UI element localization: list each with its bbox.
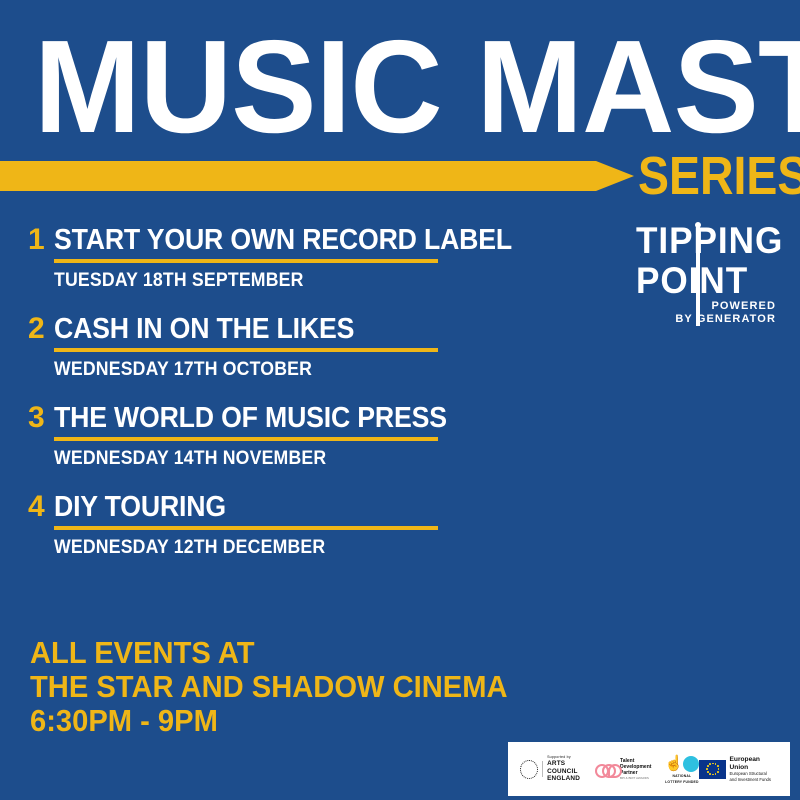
event-title: THE WORLD OF MUSIC PRESS — [54, 402, 447, 434]
logo-tagline-line-1: POWERED — [675, 300, 776, 313]
event-list: 1 START YOUR OWN RECORD LABEL TUESDAY 18… — [28, 224, 458, 580]
event-title: DIY TOURING — [54, 491, 226, 523]
logo-line-2: POINT — [636, 262, 769, 300]
lottery-circle-icon — [683, 756, 699, 772]
yellow-arrow-bar — [0, 161, 634, 191]
event-date: WEDNESDAY 17TH OCTOBER — [54, 359, 430, 380]
poster-title-block: MUSIC MASTERS — [34, 22, 774, 152]
talent-partner-line-1: Talent Development — [620, 758, 665, 770]
funder-logo-strip: Supported by ARTS COUNCIL ENGLAND Talent… — [508, 742, 790, 796]
venue-line-2: THE STAR AND SHADOW CINEMA — [30, 670, 508, 704]
logo-line-1: TIPPING — [636, 222, 769, 260]
national-lottery-marks: ☝ — [665, 754, 699, 773]
list-item: 4 DIY TOURING WEDNESDAY 12TH DECEMBER — [28, 491, 458, 558]
european-union-logo: European Union European Structural and I… — [699, 756, 778, 782]
event-heading: 2 CASH IN ON THE LIKES — [28, 313, 458, 345]
event-title: CASH IN ON THE LIKES — [54, 313, 354, 345]
european-union-text: European Union European Structural and I… — [730, 756, 778, 782]
logo-tagline: POWERED BY GENERATOR — [675, 300, 776, 326]
event-underline — [54, 437, 438, 441]
event-underline — [54, 348, 438, 352]
event-title: START YOUR OWN RECORD LABEL — [54, 224, 512, 256]
event-date: WEDNESDAY 12TH DECEMBER — [54, 537, 430, 558]
arts-council-name-2: ENGLAND — [547, 775, 595, 782]
arts-council-name-1: ARTS COUNCIL — [547, 760, 595, 775]
event-number: 1 — [28, 224, 54, 256]
poster-canvas: MUSIC MASTERS SERIES 1 START YOUR OWN RE… — [0, 0, 800, 800]
crossed-fingers-icon: ☝ — [665, 754, 680, 773]
page-title: MUSIC MASTERS — [34, 22, 752, 152]
talent-partner-line-3: BPI & BRIT AWARDS — [620, 776, 665, 780]
event-underline — [54, 259, 438, 263]
event-date: TUESDAY 18TH SEPTEMBER — [54, 270, 430, 291]
arts-council-mark-icon — [520, 760, 538, 779]
event-underline — [54, 526, 438, 530]
event-date: WEDNESDAY 14TH NOVEMBER — [54, 448, 430, 469]
list-item: 1 START YOUR OWN RECORD LABEL TUESDAY 18… — [28, 224, 458, 291]
national-lottery-line-2: LOTTERY FUNDED — [665, 780, 699, 784]
event-heading: 1 START YOUR OWN RECORD LABEL — [28, 224, 458, 256]
event-heading: 3 THE WORLD OF MUSIC PRESS — [28, 402, 458, 434]
national-lottery-line-1: NATIONAL — [672, 774, 691, 778]
event-number: 4 — [28, 491, 54, 523]
national-lottery-logo: ☝ NATIONAL LOTTERY FUNDED — [665, 754, 699, 783]
list-item: 3 THE WORLD OF MUSIC PRESS WEDNESDAY 14T… — [28, 402, 458, 469]
series-label: SERIES — [638, 149, 800, 203]
divider — [542, 761, 543, 777]
event-number: 3 — [28, 402, 54, 434]
talent-partner-text: Talent Development Partner BPI & BRIT AW… — [620, 758, 665, 780]
venue-line-1: ALL EVENTS AT — [30, 636, 508, 670]
arts-council-england-logo: Supported by ARTS COUNCIL ENGLAND — [520, 755, 595, 782]
tipping-point-logo: TIPPING POINT POWERED BY GENERATOR — [636, 222, 776, 334]
bpd-mark-icon — [595, 762, 616, 776]
list-item: 2 CASH IN ON THE LIKES WEDNESDAY 17TH OC… — [28, 313, 458, 380]
european-union-line-3: and Investment Funds — [730, 777, 778, 782]
arts-council-text: Supported by ARTS COUNCIL ENGLAND — [547, 755, 595, 782]
venue-block: ALL EVENTS AT THE STAR AND SHADOW CINEMA… — [30, 636, 538, 738]
talent-development-partner-logo: Talent Development Partner BPI & BRIT AW… — [595, 758, 665, 780]
event-number: 2 — [28, 313, 54, 345]
european-union-line-1: European Union — [730, 756, 778, 771]
venue-line-3: 6:30PM - 9PM — [30, 704, 508, 738]
eu-flag-icon — [699, 760, 726, 779]
logo-tagline-line-2: BY GENERATOR — [675, 313, 776, 326]
event-heading: 4 DIY TOURING — [28, 491, 458, 523]
